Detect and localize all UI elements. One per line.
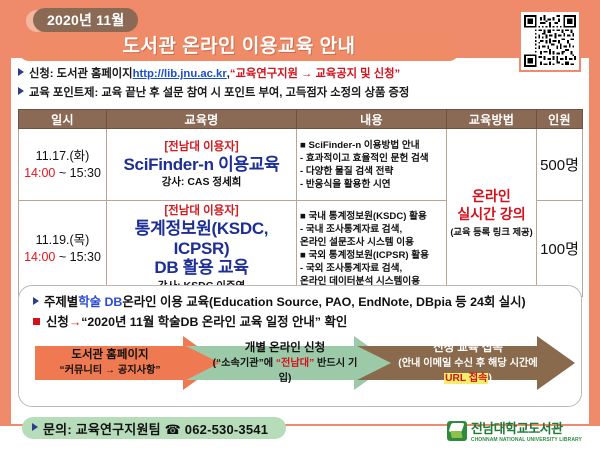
table-header-row: 일시 교육명 내용 교육방법 인원 bbox=[19, 110, 583, 129]
row2-time-start: 14:00 bbox=[24, 250, 55, 264]
flow3-line2-a: (안내 이메일 수신 후 해당 시간에 bbox=[398, 358, 537, 369]
col-header-date: 일시 bbox=[19, 110, 107, 129]
cell-desc-row1: ■ SciFinder-n 이용방법 안내 - 효과적이고 효율적인 문헌 검색… bbox=[297, 129, 447, 201]
row1-name-sub: 강사: CAS 정세희 bbox=[110, 176, 293, 188]
note-points-text: 교육 포인트제: 교육 끝난 후 설문 참여 시 포인트 부여, 고득점자 소정… bbox=[29, 85, 409, 101]
flow3-line2-b: ) bbox=[488, 373, 491, 384]
method-line2: 실시간 강의 bbox=[450, 205, 533, 223]
notice2-arrow: → bbox=[69, 315, 81, 329]
col-header-count: 인원 bbox=[537, 110, 583, 129]
flow3-line1: 신청 교육 접속 bbox=[387, 341, 549, 356]
row2-desc-2: 온라인 설문조사 시스템 이용 bbox=[300, 236, 443, 249]
row2-name-main-1: 통계정보원(KSDC, ICPSR) bbox=[110, 219, 293, 258]
logo-name-ko: 전남대학교도서관 bbox=[471, 418, 582, 437]
notice2-c: “2020년 11월 학술DB 온라인 교육 일정 안내” 확인 bbox=[81, 312, 347, 330]
col-header-desc: 내용 bbox=[297, 110, 447, 129]
intro-notes: 신청: 도서관 홈페이지 http://lib.jnu.ac.kr , “교육연… bbox=[18, 66, 538, 104]
triangle-bullet-icon bbox=[32, 423, 38, 431]
frame-band-left bbox=[0, 0, 11, 424]
note-apply-path: “교육연구지원 → 교육공지 및 신청” bbox=[230, 66, 400, 82]
notice-box: 주제별 학술 DB 온라인 이용 교육(Education Source, PA… bbox=[18, 285, 582, 407]
cell-method: 온라인 실시간 강의 (교육 등록 링크 제공) bbox=[447, 129, 537, 297]
square-bullet-icon bbox=[33, 318, 40, 325]
triangle-bullet-icon bbox=[18, 68, 24, 76]
notice1-a: 주제별 bbox=[44, 292, 78, 310]
row2-date: 11.19.(목) bbox=[36, 233, 90, 247]
cell-name-row2: [전남대 이용자] 통계정보원(KSDC, ICPSR) DB 활용 교육 강사… bbox=[107, 201, 297, 297]
row1-name-main: SciFinder-n 이용교육 bbox=[110, 155, 293, 175]
cell-desc-row2: ■ 국내 통계정보원(KSDC) 활용 - 국내 조사통계자료 검색, 온라인 … bbox=[297, 201, 447, 297]
row1-name-tag: [전남대 이용자] bbox=[110, 141, 293, 154]
method-line1: 온라인 bbox=[450, 187, 533, 205]
row2-name-tag: [전남대 이용자] bbox=[110, 205, 293, 218]
triangle-bullet-icon bbox=[33, 297, 39, 305]
row2-desc-3: ■ 국외 통계정보원(ICPSR) 활용 bbox=[300, 249, 443, 262]
row2-desc-1: - 국내 조사통계자료 검색, bbox=[300, 223, 443, 236]
library-logo-mark-icon bbox=[447, 421, 467, 441]
notice-line-subject-db: 주제별 학술 DB 온라인 이용 교육(Education Source, PA… bbox=[33, 292, 526, 310]
poster-root: 2020년 11월 도서관 온라인 이용교육 안내 bbox=[0, 0, 600, 450]
method-sub: (교육 등록 링크 제공) bbox=[450, 224, 533, 238]
logo-name-en: CHONNAM NATIONAL UNIVERSITY LIBRARY bbox=[471, 437, 582, 443]
row2-desc-0: ■ 국내 통계정보원(KSDC) 활용 bbox=[300, 210, 443, 223]
table-row: 11.17.(화) 14:00 ~ 15:30 [전남대 이용자] SciFin… bbox=[19, 129, 583, 201]
note-line-points: 교육 포인트제: 교육 끝난 후 설문 참여 시 포인트 부여, 고득점자 소정… bbox=[18, 85, 538, 101]
note-apply-prefix: 신청: 도서관 홈페이지 bbox=[29, 66, 133, 82]
flow-step-3-text: 신청 교육 접속 (안내 이메일 수신 후 해당 시간에 URL 접속) bbox=[357, 341, 575, 386]
flow-step-3: 신청 교육 접속 (안내 이메일 수신 후 해당 시간에 URL 접속) bbox=[357, 336, 575, 390]
row1-time-start: 14:00 bbox=[24, 166, 55, 180]
notice-line-apply-schedule: 신청 → “2020년 11월 학술DB 온라인 교육 일정 안내” 확인 bbox=[33, 312, 347, 330]
notice1-c: 온라인 이용 교육(Education Source, PAO, EndNote… bbox=[122, 292, 525, 310]
library-logo: 전남대학교도서관 CHONNAM NATIONAL UNIVERSITY LIB… bbox=[447, 418, 582, 443]
row1-desc-0: ■ SciFinder-n 이용방법 안내 bbox=[300, 139, 443, 152]
triangle-bullet-icon bbox=[18, 87, 24, 95]
flow3-line2-highlight: URL 접속 bbox=[444, 373, 488, 384]
row2-desc-4: - 국외 조사통계자료 검색, bbox=[300, 262, 443, 275]
row1-desc-1: - 효과적이고 효율적인 문헌 검색 bbox=[300, 152, 443, 165]
col-header-method: 교육방법 bbox=[447, 110, 537, 129]
page-title: 도서관 온라인 이용교육 안내 bbox=[19, 33, 459, 61]
frame-band-right bbox=[589, 0, 600, 424]
cell-date-row1: 11.17.(화) 14:00 ~ 15:30 bbox=[19, 129, 107, 201]
flow3-line2: (안내 이메일 수신 후 해당 시간에 URL 접속) bbox=[387, 356, 549, 386]
cell-count-row2: 100명 bbox=[537, 201, 583, 297]
page-title-wrapper: 도서관 온라인 이용교육 안내 bbox=[19, 33, 459, 61]
row2-time-rest: ~ 15:30 bbox=[55, 250, 101, 264]
flow2-line1: 개별 온라인 신청 bbox=[212, 341, 358, 356]
flow2-line2: (“소속기관”에 “전남대” 반드시 기입) bbox=[212, 356, 358, 386]
notice1-highlight: 학술 DB bbox=[78, 292, 122, 310]
row2-name-main-2: DB 활용 교육 bbox=[110, 258, 293, 278]
flow1-line1: 도서관 홈페이지 bbox=[35, 348, 185, 363]
library-homepage-link[interactable]: http://lib.jnu.ac.kr bbox=[133, 66, 227, 82]
cell-name-row1: [전남대 이용자] SciFinder-n 이용교육 강사: CAS 정세희 bbox=[107, 129, 297, 201]
schedule-table: 일시 교육명 내용 교육방법 인원 11.17.(화) 14:00 ~ 15:3… bbox=[18, 109, 583, 297]
row1-time-rest: ~ 15:30 bbox=[55, 166, 101, 180]
contact-pill: 문의: 교육연구지원팀 ☎ 062-530-3541 bbox=[22, 417, 286, 439]
process-flow: 도서관 홈페이지 “커뮤니티 → 공지사항” 개별 온라인 신청 (“소속기관”… bbox=[35, 336, 575, 390]
col-header-name: 교육명 bbox=[107, 110, 297, 129]
flow2-line2-a: (“소속기관”에 bbox=[213, 358, 276, 369]
qr-code-icon[interactable] bbox=[519, 10, 581, 72]
row1-desc-3: - 반응식을 활용한 시연 bbox=[300, 178, 443, 191]
cell-count-row1: 500명 bbox=[537, 129, 583, 201]
month-badge: 2020년 11월 bbox=[33, 8, 138, 32]
flow2-line2-highlight: “전남대” bbox=[276, 358, 314, 369]
note-line-apply: 신청: 도서관 홈페이지 http://lib.jnu.ac.kr , “교육연… bbox=[18, 66, 538, 82]
row1-desc-2: - 다양한 물질 검색 전략 bbox=[300, 165, 443, 178]
flow1-line2: “커뮤니티 → 공지사항” bbox=[35, 363, 185, 378]
contact-text: 문의: 교육연구지원팀 ☎ 062-530-3541 bbox=[43, 419, 268, 438]
notice2-a: 신청 bbox=[46, 312, 69, 330]
library-logo-text: 전남대학교도서관 CHONNAM NATIONAL UNIVERSITY LIB… bbox=[471, 418, 582, 443]
row1-date: 11.17.(화) bbox=[36, 149, 90, 163]
cell-date-row2: 11.19.(목) 14:00 ~ 15:30 bbox=[19, 201, 107, 297]
